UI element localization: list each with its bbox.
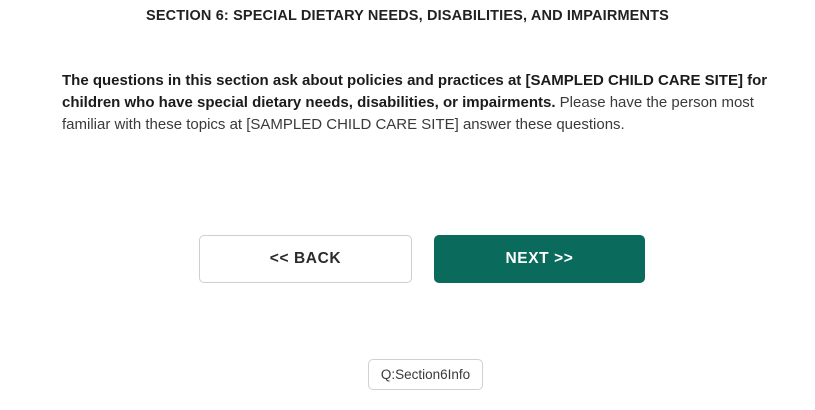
navigation-buttons: << BACK NEXT >>: [199, 235, 645, 283]
page-title: SECTION 6: SPECIAL DIETARY NEEDS, DISABI…: [0, 8, 815, 24]
question-id-badge: Q:Section6Info: [368, 359, 483, 390]
survey-page: SECTION 6: SPECIAL DIETARY NEEDS, DISABI…: [0, 0, 815, 410]
back-button[interactable]: << BACK: [199, 235, 412, 283]
next-button[interactable]: NEXT >>: [434, 235, 645, 283]
intro-paragraph: The questions in this section ask about …: [62, 70, 774, 136]
